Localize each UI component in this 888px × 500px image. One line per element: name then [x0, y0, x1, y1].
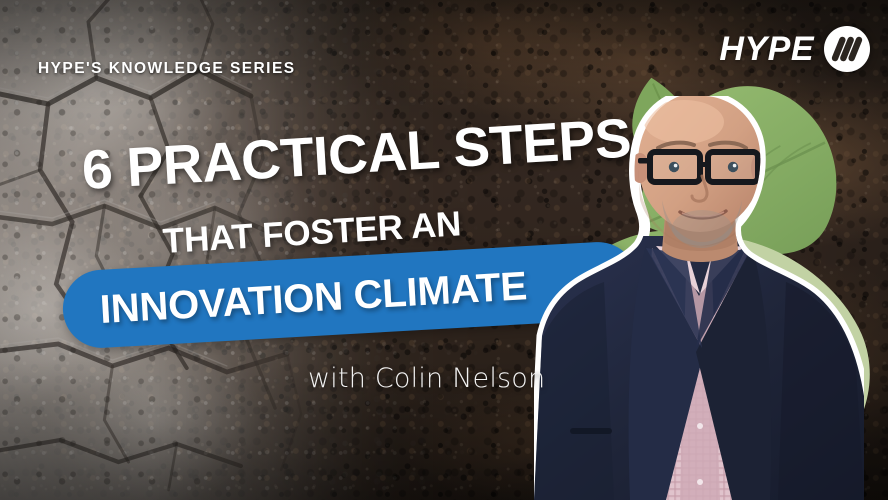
kicker-label: HYPE'S KNOWLEDGE SERIES [38, 60, 296, 78]
brand-wordmark: HYPE [719, 32, 814, 66]
presenter-credit: with Colin Nelson [308, 363, 545, 394]
title-card: HYPE'S KNOWLEDGE SERIES 6 PRACTICAL STEP… [0, 0, 888, 500]
brand-logo[interactable]: HYPE [719, 26, 870, 72]
hype-bars-circle-icon [824, 26, 870, 72]
portrait-colin-nelson [534, 96, 864, 500]
